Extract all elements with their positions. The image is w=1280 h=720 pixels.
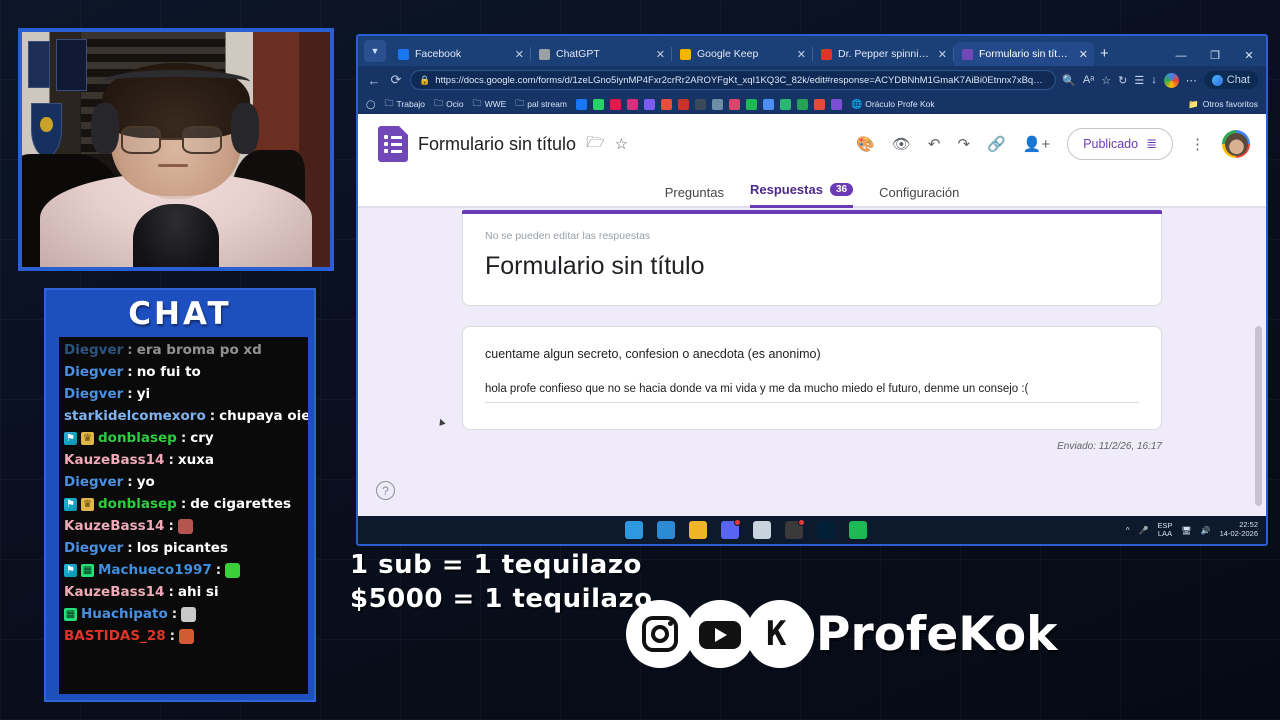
tab-close-icon[interactable]: ✕ (1079, 48, 1088, 61)
green-badge-icon (64, 608, 77, 621)
bookmark-site-icon[interactable] (746, 99, 757, 110)
chat-username[interactable]: Diegver (64, 540, 123, 556)
other-favorites-label: Otros favoritos (1203, 99, 1258, 109)
tab-title: Dr. Pepper spinning to Daft Punk (838, 48, 932, 60)
bookmark-site-icon[interactable] (661, 99, 672, 110)
browser-address-bar-row: ← ⟳ 🔒 https://docs.google.com/forms/d/1z… (358, 66, 1266, 94)
copilot-label: Chat (1227, 74, 1250, 86)
chat-title: CHAT (46, 290, 314, 337)
discord-icon[interactable] (721, 521, 739, 539)
tab-close-icon[interactable]: ✕ (656, 48, 665, 61)
bookmark-label: Ocio (446, 99, 463, 109)
window-controls: — ❐ ✕ (1164, 49, 1266, 62)
chat-separator: : (127, 364, 132, 380)
bookmark-folder[interactable]: 🗀pal stream (515, 96, 567, 112)
wall-poster-1 (28, 41, 50, 88)
chat-emote-icon (178, 519, 193, 534)
brand-bar: K ProfeKok (626, 600, 1057, 668)
folder-icon: 🗀 (385, 96, 394, 112)
tab-title: Formulario sin título - Formularios (979, 48, 1073, 60)
bookmark-site-icon[interactable] (695, 99, 706, 110)
globe-icon: 🌐 (851, 99, 862, 110)
chat-message-text: xuxa (178, 452, 214, 468)
tab-title: ChatGPT (556, 48, 650, 60)
promo-line-1: 1 sub = 1 tequilazo (350, 548, 653, 582)
chat-username[interactable]: KauzeBass14 (64, 584, 164, 600)
bookmark-folder[interactable]: 🗀Ocio (434, 96, 464, 112)
bookmark-site-icon[interactable] (780, 99, 791, 110)
magnify-icon[interactable]: 🔍 (1062, 74, 1076, 87)
mod-badge-icon (81, 498, 94, 511)
answer-text: hola profe confieso que no se hacia dond… (485, 383, 1139, 403)
chat-message-text: no fui to (137, 364, 201, 380)
eye-icon[interactable]: 👁 (892, 135, 911, 153)
bookmarks-bar: ◯ 🗀Trabajo🗀Ocio🗀WWE🗀pal stream 🌐 Oráculo… (358, 94, 1266, 114)
promo-line-2: $5000 = 1 tequilazo (350, 582, 653, 616)
tab-favicon (398, 49, 409, 60)
browser-tab[interactable]: Dr. Pepper spinning to Daft Punk✕ (813, 42, 953, 66)
folder-icon: 📁 (1188, 99, 1199, 110)
tab-favicon (821, 49, 832, 60)
tab-favicon (539, 49, 550, 60)
forms-tab[interactable]: Respuestas36 (750, 182, 853, 208)
chat-message: KauzeBass14 : (59, 515, 308, 537)
chat-message-text: ahi si (178, 584, 219, 600)
bookmark-site-icon[interactable] (593, 99, 604, 110)
bookmark-oraculo-profe-kok[interactable]: 🌐 Oráculo Profe Kok (851, 99, 935, 110)
kebab-menu-icon[interactable]: ⋮ (1190, 135, 1205, 153)
wall-pennant (31, 103, 62, 157)
palette-icon[interactable]: 🎨 (856, 135, 875, 153)
chat-username[interactable]: BASTIDAS_28 (64, 628, 166, 644)
person-add-icon[interactable]: 👤+ (1023, 135, 1050, 153)
browser-tab[interactable]: Facebook✕ (390, 42, 530, 66)
edge-icon[interactable] (657, 521, 675, 539)
response-count-badge: 36 (830, 183, 853, 196)
chat-separator: : (181, 430, 186, 446)
bookmark-site-icon[interactable] (678, 99, 689, 110)
sub-badge-icon (64, 498, 77, 511)
forms-tab-label: Configuración (879, 185, 959, 200)
green-badge-icon (81, 564, 94, 577)
address-input[interactable]: 🔒 https://docs.google.com/forms/d/1zeLGn… (410, 70, 1056, 90)
read-aloud-icon[interactable]: Aᵃ (1083, 74, 1094, 86)
chat-message-text: era broma po xd (137, 342, 262, 358)
chat-message-list[interactable]: Diegver : era broma po xdDiegver : no fu… (59, 337, 308, 694)
chat-username[interactable]: KauzeBass14 (64, 518, 164, 534)
forms-tabs: PreguntasRespuestas36Configuración (358, 174, 1266, 208)
microphone-icon[interactable]: 🎤 (1139, 526, 1149, 535)
chat-message: Diegver : era broma po xd (59, 339, 308, 361)
chat-message: KauzeBass14 : xuxa (59, 449, 308, 471)
taskbar-app-icons (625, 521, 867, 539)
steam-icon[interactable] (753, 521, 771, 539)
tab-title: Facebook (415, 48, 509, 60)
tab-close-icon[interactable]: ✕ (515, 48, 524, 61)
bookmark-label: Trabajo (397, 99, 426, 109)
chat-message-text: chupaya oie (219, 408, 308, 424)
forms-tab-label: Preguntas (665, 185, 724, 200)
bookmark-site-icon[interactable] (729, 99, 740, 110)
notification-dot (798, 519, 805, 526)
bookmark-site-icon[interactable] (763, 99, 774, 110)
page-scrollbar[interactable] (1254, 208, 1263, 516)
taskbar-system-tray: ^ 🎤 ESP LAA 🖥 🔊 22:52 14-02-2026 (1126, 521, 1258, 538)
download-icon[interactable]: ↓ (1151, 74, 1157, 86)
question-text: cuentame algun secreto, confesion o anec… (485, 347, 1139, 361)
sliders-icon: ≣ (1146, 136, 1157, 152)
bookmark-label: WWE (485, 99, 507, 109)
chat-message-text: yo (137, 474, 155, 490)
windows-taskbar: ^ 🎤 ESP LAA 🖥 🔊 22:52 14-02-2026 (358, 516, 1266, 544)
help-circle-icon[interactable]: ? (376, 481, 395, 500)
language-indicator[interactable]: ESP LAA (1157, 522, 1172, 538)
chat-message-text: los picantes (137, 540, 228, 556)
chat-separator: : (168, 452, 173, 468)
chat-separator: : (127, 386, 132, 402)
start-windows-icon[interactable] (625, 521, 643, 539)
chat-separator: : (210, 408, 215, 424)
forms-header: Formulario sin título 🗁 ☆ 🎨 👁 ↶ ↷ 🔗 👤+ P… (358, 114, 1266, 174)
folder-icon: 🗀 (515, 96, 524, 112)
bookmark-folder[interactable]: 🗀Trabajo (385, 96, 426, 112)
no-edit-notice: No se pueden editar las respuestas (485, 230, 1139, 242)
chat-message: Diegver : yi (59, 383, 308, 405)
sub-badge-icon (64, 432, 77, 445)
redo-icon[interactable]: ↷ (957, 135, 970, 153)
youtube-icon (686, 600, 754, 668)
bookmark-site-icon[interactable] (627, 99, 638, 110)
chat-separator: : (181, 496, 186, 512)
stream-overlay-stage: CHAT Diegver : era broma po xdDiegver : … (0, 0, 1280, 720)
folder-icon: 🗀 (434, 96, 443, 112)
chat-separator: : (170, 628, 175, 644)
chat-message: Diegver : no fui to (59, 361, 308, 383)
form-title-text: Formulario sin título (485, 252, 1139, 281)
chat-username[interactable]: starkidelcomexoro (64, 408, 206, 424)
streamer-mouth (158, 164, 189, 167)
browser-window: ▼ Facebook✕ChatGPT✕Google Keep✕Dr. Peppe… (356, 34, 1268, 546)
microphone (133, 204, 219, 271)
network-icon[interactable]: 🖥 (1182, 526, 1192, 535)
clock[interactable]: 22:52 14-02-2026 (1220, 521, 1258, 538)
forms-tab[interactable]: Configuración (879, 185, 959, 208)
browser-tab[interactable]: ChatGPT✕ (531, 42, 671, 66)
folder-icon[interactable]: 🗁 (586, 132, 605, 157)
bookmark-site-icon[interactable] (831, 99, 842, 110)
glasses-right-lens (182, 126, 222, 154)
forms-tab-label: Respuestas (750, 182, 823, 197)
chat-separator: : (127, 474, 132, 490)
chat-message: donblasep : cry (59, 427, 308, 449)
webcam-feed (18, 28, 334, 271)
refresh-button[interactable]: ⟳ (388, 72, 404, 88)
lock-icon: 🔒 (419, 75, 430, 86)
google-forms-page: Formulario sin título 🗁 ☆ 🎨 👁 ↶ ↷ 🔗 👤+ P… (358, 114, 1266, 516)
chat-emote-icon (181, 607, 196, 622)
copilot-chat-button[interactable]: Chat (1204, 71, 1258, 89)
page-title[interactable]: Formulario sin título (418, 134, 576, 155)
submitted-timestamp: Enviado: 11/2/26, 16:17 (358, 441, 1162, 452)
language-line-2: LAA (1158, 529, 1172, 538)
new-tab-button[interactable]: + (1100, 45, 1109, 62)
bookmark-site-icon[interactable] (797, 99, 808, 110)
notification-dot (734, 519, 741, 526)
bookmark-oraculo-label: Oráculo Profe Kok (865, 99, 934, 109)
close-button[interactable]: ✕ (1232, 49, 1266, 62)
scrollbar-thumb[interactable] (1255, 326, 1262, 506)
chat-message: Diegver : los picantes (59, 537, 308, 559)
star-icon[interactable]: ☆ (615, 135, 628, 153)
link-icon[interactable]: 🔗 (987, 135, 1006, 153)
account-avatar[interactable] (1222, 130, 1250, 158)
forms-response-body: No se pueden editar las respuestas Formu… (358, 208, 1266, 516)
chat-message: Huachipato : (59, 603, 308, 625)
chat-message-text: de cigarettes (190, 496, 291, 512)
publish-button[interactable]: Publicado ≣ (1067, 128, 1173, 160)
chat-panel: CHAT Diegver : era broma po xdDiegver : … (44, 288, 316, 702)
bookmark-site-icon[interactable] (814, 99, 825, 110)
tab-close-icon[interactable]: ✕ (938, 48, 947, 61)
sub-badge-icon (64, 564, 77, 577)
minimize-button[interactable]: — (1164, 50, 1198, 62)
chat-emote-icon (179, 629, 194, 644)
browser-tab[interactable]: Google Keep✕ (672, 42, 812, 66)
volume-icon[interactable]: 🔊 (1201, 526, 1211, 535)
kick-icon: K (746, 600, 814, 668)
chat-username[interactable]: Diegver (64, 474, 123, 490)
forms-header-actions: 🎨 👁 ↶ ↷ 🔗 👤+ Publicado ≣ ⋮ (856, 128, 1250, 160)
tab-favicon (962, 49, 973, 60)
chat-message: Diegver : yo (59, 471, 308, 493)
folder-icon: 🗀 (473, 96, 482, 112)
bookmark-site-icon[interactable] (644, 99, 655, 110)
chat-message-text: cry (190, 430, 213, 446)
tab-title: Google Keep (697, 48, 791, 60)
back-button[interactable]: ← (366, 73, 382, 88)
copilot-icon (1212, 75, 1223, 86)
bookmark-site-icon[interactable] (712, 99, 723, 110)
chat-username[interactable]: Diegver (64, 364, 123, 380)
profile-avatar[interactable] (1164, 73, 1179, 88)
file-explorer-icon[interactable] (689, 521, 707, 539)
mod-badge-icon (81, 432, 94, 445)
browser-tab[interactable]: Formulario sin título - Formularios✕ (954, 42, 1094, 66)
glasses-bridge (161, 138, 183, 140)
other-favorites-button[interactable]: 📁 Otros favoritos (1188, 99, 1258, 110)
spotify-icon[interactable] (849, 521, 867, 539)
instagram-icon (626, 600, 694, 668)
chat-username[interactable]: KauzeBass14 (64, 452, 164, 468)
chat-username[interactable]: Machueco1997 (98, 562, 212, 578)
bookmarks-collections-icon[interactable]: ◯ (366, 99, 376, 110)
wall-poster-2 (56, 39, 87, 91)
forms-tab[interactable]: Preguntas (665, 185, 724, 208)
promo-text: 1 sub = 1 tequilazo $5000 = 1 tequilazo (350, 548, 653, 617)
chat-separator: : (127, 342, 132, 358)
chat-separator: : (168, 584, 173, 600)
bookmark-folder[interactable]: 🗀WWE (473, 96, 507, 112)
chat-message: KauzeBass14 : ahi si (59, 581, 308, 603)
headphone-left-cup (91, 103, 119, 155)
clock-date: 14-02-2026 (1220, 529, 1258, 538)
address-url-text: https://docs.google.com/forms/d/1zeLGno5… (435, 75, 1047, 86)
bookmark-site-icon[interactable] (576, 99, 587, 110)
chat-separator: : (168, 518, 173, 534)
ellipsis-icon[interactable]: ⋯ (1186, 74, 1197, 87)
chat-message: donblasep : de cigarettes (59, 493, 308, 515)
maximize-button[interactable]: ❐ (1198, 49, 1232, 62)
headphone-right-cup (231, 103, 259, 155)
publish-label: Publicado (1083, 137, 1138, 151)
response-card: cuentame algun secreto, confesion o anec… (462, 326, 1162, 430)
tab-search-chevron-icon[interactable]: ▼ (364, 40, 386, 62)
bookmark-label: pal stream (527, 99, 567, 109)
chat-emote-icon (225, 563, 240, 578)
chat-message: Machueco1997 : (59, 559, 308, 581)
chat-message: starkidelcomexoro : chupaya oie (59, 405, 308, 427)
chat-message: BASTIDAS_28 : (59, 625, 308, 647)
collections-icon[interactable]: ☰ (1134, 74, 1144, 87)
chat-username[interactable]: Diegver (64, 386, 123, 402)
chrome-icon[interactable] (785, 521, 803, 539)
undo-icon[interactable]: ↶ (928, 135, 941, 153)
glasses-left-lens (121, 126, 161, 154)
chat-username[interactable]: Diegver (64, 342, 123, 358)
tab-favicon (680, 49, 691, 60)
tab-close-icon[interactable]: ✕ (797, 48, 806, 61)
chat-separator: : (216, 562, 221, 578)
brand-name: ProfeKok (816, 607, 1057, 662)
google-forms-logo-icon (378, 126, 408, 162)
chat-message-text: yi (137, 386, 150, 402)
chat-separator: : (127, 540, 132, 556)
star-icon[interactable]: ☆ (1101, 74, 1111, 87)
bookmark-site-icon[interactable] (610, 99, 621, 110)
form-title-card: No se pueden editar las respuestas Formu… (462, 214, 1162, 306)
chat-separator: : (172, 606, 177, 622)
photoshop-icon[interactable] (817, 521, 835, 539)
address-bar-actions: 🔍 Aᵃ ☆ ↻ ☰ ↓ ⋯ Chat (1062, 71, 1258, 89)
headphones-band (102, 70, 250, 94)
chat-username[interactable]: Huachipato (81, 606, 168, 622)
chat-username[interactable]: donblasep (98, 430, 177, 446)
history-icon[interactable]: ↻ (1118, 74, 1127, 87)
chat-username[interactable]: donblasep (98, 496, 177, 512)
tray-chevron-icon[interactable]: ^ (1126, 526, 1130, 535)
browser-tab-strip: ▼ Facebook✕ChatGPT✕Google Keep✕Dr. Peppe… (358, 36, 1266, 66)
